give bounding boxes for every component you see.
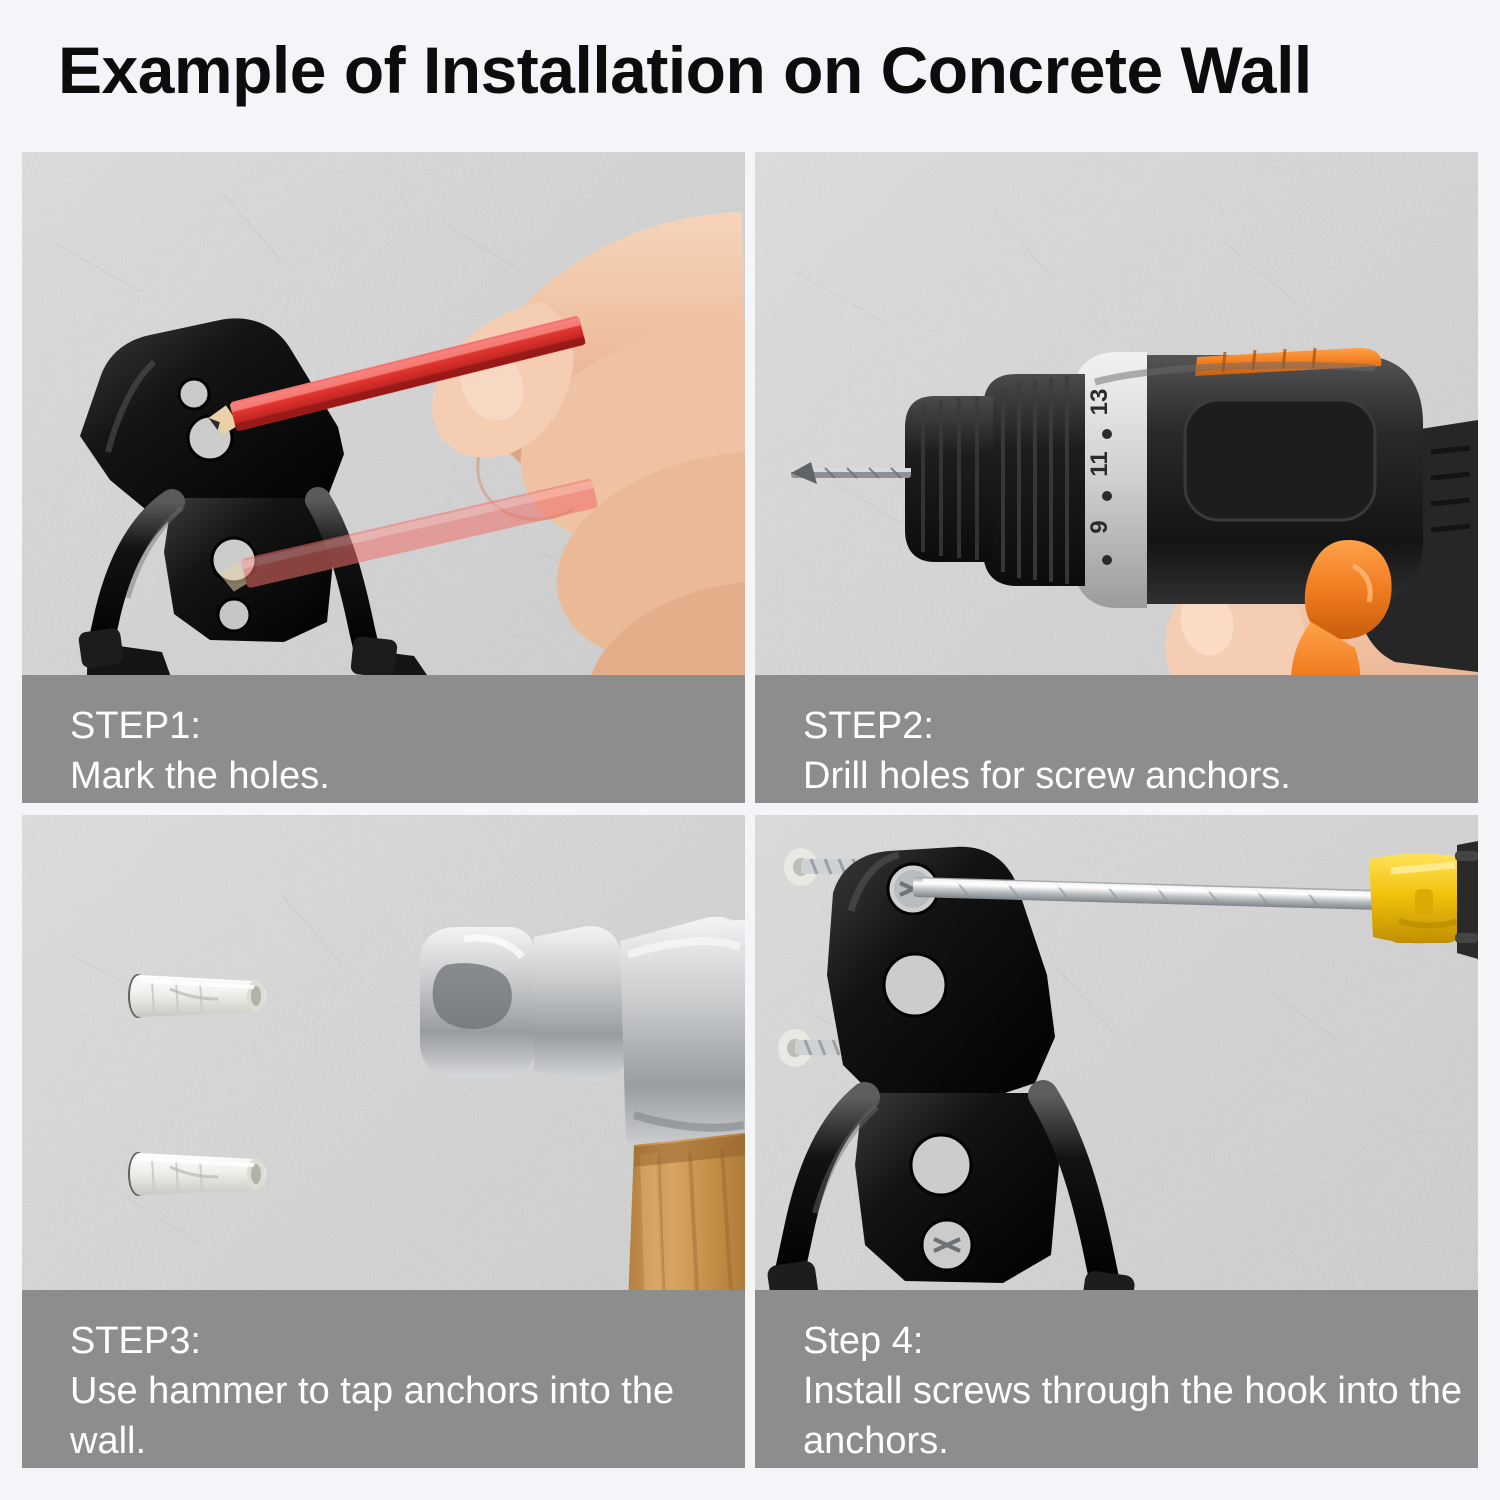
step-panel-3: STEP3: Use hammer to tap anchors into th… (22, 815, 745, 1468)
torque-mark-13: 13 (1086, 389, 1113, 416)
step-3-label: STEP3: (70, 1316, 745, 1366)
step-1-caption: STEP1: Mark the holes. (22, 675, 745, 803)
step-panel-4: Step 4: Install screws through the hook … (755, 815, 1478, 1468)
step-3-instruction: Use hammer to tap anchors into the wall. (70, 1366, 745, 1466)
wall-anchor-1 (128, 974, 266, 1018)
wall-anchor-2 (128, 1152, 266, 1196)
infographic-page: Example of Installation on Concrete Wall (0, 0, 1500, 1500)
steps-grid: STEP1: Mark the holes. (22, 152, 1478, 1468)
step-4-label: Step 4: (803, 1316, 1478, 1366)
page-title: Example of Installation on Concrete Wall (58, 32, 1312, 108)
step-2-caption: STEP2: Drill holes for screw anchors. (755, 675, 1478, 803)
step-2-instruction: Drill holes for screw anchors. (803, 751, 1478, 801)
step-4-caption: Step 4: Install screws through the hook … (755, 1290, 1478, 1468)
step-3-caption: STEP3: Use hammer to tap anchors into th… (22, 1290, 745, 1468)
step-4-instruction: Install screws through the hook into the… (803, 1366, 1478, 1466)
torque-mark-11: 11 (1086, 451, 1113, 476)
torque-mark-9: 9 (1086, 520, 1113, 533)
step-panel-2: 13 11 9 (755, 152, 1478, 803)
step-panel-1: STEP1: Mark the holes. (22, 152, 745, 803)
step-2-label: STEP2: (803, 701, 1478, 751)
step-1-instruction: Mark the holes. (70, 751, 745, 801)
step-1-label: STEP1: (70, 701, 745, 751)
